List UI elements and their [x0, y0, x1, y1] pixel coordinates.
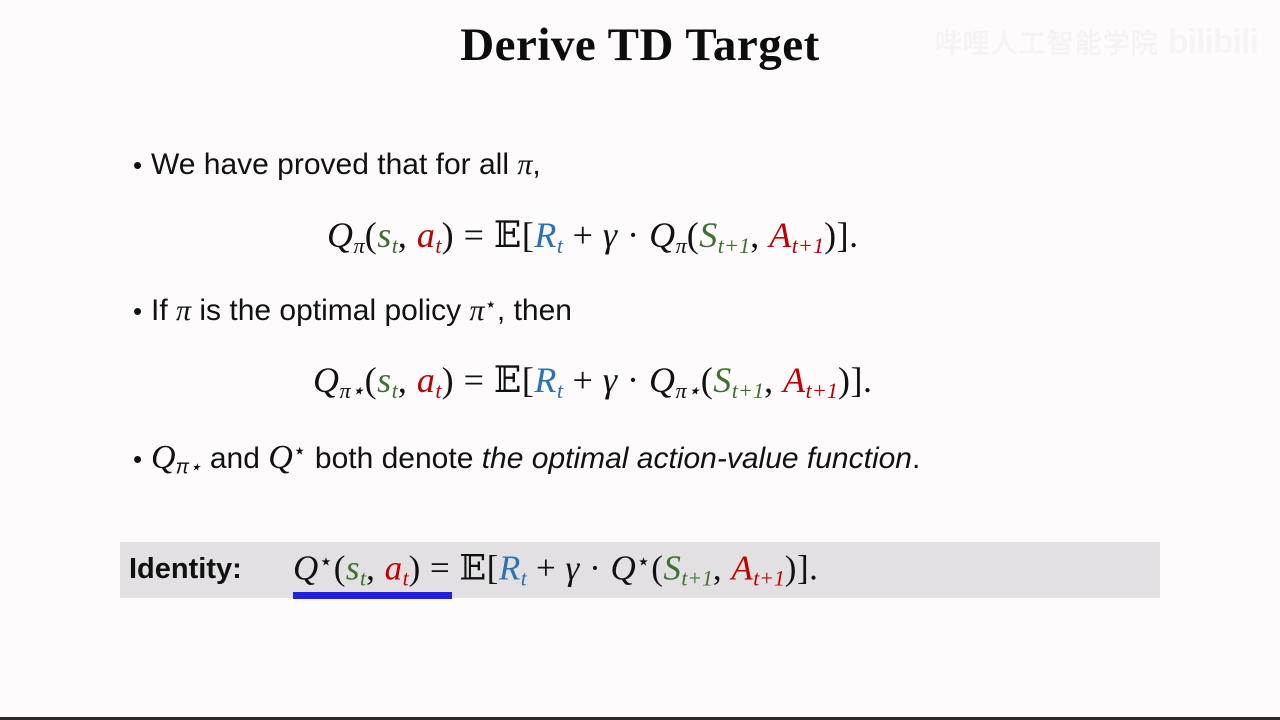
- id-bracket-close: )]: [785, 548, 809, 587]
- bullet-marker: •: [133, 446, 151, 472]
- eq1-expectation-symbol: 𝔼: [494, 215, 522, 256]
- equation-1: Qπ(st, at) = 𝔼[Rt + γ · Qπ(St+1, At+1)].: [327, 214, 859, 259]
- eq1-action-A-next: A: [769, 215, 792, 255]
- eq1-bracket-close: )]: [824, 215, 849, 255]
- eq1-period: .: [849, 215, 859, 255]
- bullet-1-lead: We have proved that for all: [151, 148, 517, 181]
- eq1-open-paren: (: [365, 215, 378, 255]
- bullet-marker: •: [133, 298, 151, 324]
- eq2-action-A-next: A: [783, 360, 806, 400]
- eq2-lhs-sub: π⋆: [340, 378, 365, 403]
- eq2-bracket-open: [: [522, 360, 535, 400]
- eq2-reward-R: R: [534, 360, 557, 400]
- bullet-item-2: • If π is the optimal policy π⋆, then: [133, 293, 572, 328]
- bullet-2-lead: If: [151, 294, 176, 327]
- eq1-cdot: ·: [618, 215, 650, 255]
- q-star-symbol: Q: [268, 439, 293, 476]
- id-expectation-symbol: 𝔼: [460, 548, 487, 588]
- bullet-3-mid: and: [201, 442, 268, 475]
- bullet-text-2: If π is the optimal policy π⋆, then: [151, 293, 572, 328]
- pi-symbol: π: [517, 148, 532, 181]
- eq1-bracket-open: [: [522, 215, 535, 255]
- id-open-paren-2: (: [651, 548, 663, 587]
- eq2-open-paren: (: [365, 360, 378, 400]
- bullet-text-3: Qπ⋆ and Q⋆ both denote the optimal actio…: [151, 438, 920, 479]
- id-equals: =: [421, 548, 460, 587]
- id-comma-1: ,: [366, 548, 385, 587]
- eq1-equals: =: [454, 215, 494, 255]
- eq2-bracket-close: )]: [838, 360, 863, 400]
- slide-canvas: Derive TD Target 哔哩人工智能学院 bilibili • We …: [0, 0, 1280, 720]
- q-pi-star-symbol: Q: [151, 439, 176, 476]
- eq1-comma-1: ,: [398, 215, 417, 255]
- eq1-plus: +: [563, 215, 603, 255]
- id-lhs-Q: Q: [293, 548, 319, 587]
- bullet-1-tail: ,: [532, 148, 540, 181]
- id-period: .: [809, 548, 818, 587]
- eq2-action-a: a: [417, 360, 436, 400]
- slide-body: • We have proved that for all π, Qπ(st, …: [0, 0, 1280, 720]
- equation-2: Qπ⋆(st, at) = 𝔼[Rt + γ · Qπ⋆(St+1, At+1)…: [313, 359, 873, 404]
- eq2-rhs-sub: π⋆: [676, 378, 701, 403]
- id-comma-2: ,: [713, 548, 732, 587]
- eq2-rhs-Q: Q: [649, 360, 676, 400]
- eq1-state-S-next-sub: t+1: [718, 233, 750, 258]
- eq1-state-S-next: S: [699, 215, 718, 255]
- eq1-open-paren-2: (: [687, 215, 700, 255]
- identity-blue-underline: [293, 592, 452, 599]
- eq2-action-A-next-sub: t+1: [806, 378, 838, 403]
- eq2-plus: +: [563, 360, 603, 400]
- eq2-period: .: [863, 360, 873, 400]
- eq2-state-S-next: S: [713, 360, 732, 400]
- eq1-action-a: a: [417, 215, 436, 255]
- eq2-comma-1: ,: [398, 360, 417, 400]
- eq2-state-s: s: [377, 360, 392, 400]
- eq1-state-s: s: [377, 215, 392, 255]
- q-star-superscript: ⋆: [293, 438, 307, 463]
- eq1-close-paren: ): [442, 215, 455, 255]
- id-gamma: γ: [566, 548, 580, 587]
- eq1-lhs-Q: Q: [327, 215, 354, 255]
- eq1-action-A-next-sub: t+1: [792, 233, 824, 258]
- emphasis-phrase: the optimal action-value function: [482, 442, 912, 475]
- star-superscript: ⋆: [485, 294, 497, 316]
- eq2-close-paren: ): [442, 360, 455, 400]
- id-state-S-next-sub: t+1: [681, 566, 713, 590]
- eq2-cdot: ·: [618, 360, 650, 400]
- eq2-open-paren-2: (: [701, 360, 714, 400]
- q-pi-star-subscript: π⋆: [176, 456, 202, 478]
- eq2-lhs-Q: Q: [313, 360, 340, 400]
- id-close-paren: ): [409, 548, 421, 587]
- id-rhs-Q: Q: [610, 548, 636, 587]
- pi-symbol: π: [176, 294, 191, 327]
- bullet-marker: •: [133, 152, 151, 178]
- bullet-3-tail: .: [912, 442, 920, 475]
- id-state-S-next: S: [663, 548, 681, 587]
- bullet-3-denote: both denote: [307, 442, 482, 475]
- pi-star-symbol: π: [470, 294, 485, 327]
- identity-label: Identity:: [129, 553, 242, 586]
- eq1-gamma: γ: [603, 215, 618, 255]
- bullet-text-1: We have proved that for all π,: [151, 148, 541, 182]
- identity-equation: Q⋆(st, at) = 𝔼[Rt + γ · Q⋆(St+1, At+1)].: [293, 548, 818, 591]
- eq2-expectation-symbol: 𝔼: [494, 360, 522, 401]
- bullet-2-mid: is the optimal policy: [191, 294, 469, 327]
- bullet-item-1: • We have proved that for all π,: [133, 148, 541, 182]
- id-lhs-star: ⋆: [319, 548, 334, 574]
- eq2-comma-2: ,: [764, 360, 783, 400]
- eq1-reward-R: R: [534, 215, 557, 255]
- id-reward-R: R: [499, 548, 521, 587]
- id-cdot: ·: [580, 548, 611, 587]
- bullet-2-tail: , then: [497, 294, 572, 327]
- id-action-a: a: [385, 548, 403, 587]
- eq2-state-S-next-sub: t+1: [732, 378, 764, 403]
- id-rhs-star: ⋆: [636, 548, 651, 574]
- id-bracket-open: [: [487, 548, 499, 587]
- id-action-A-next: A: [731, 548, 753, 587]
- eq1-comma-2: ,: [750, 215, 769, 255]
- eq2-gamma: γ: [603, 360, 618, 400]
- id-state-s: s: [346, 548, 360, 587]
- eq1-lhs-sub: π: [354, 233, 365, 258]
- eq1-rhs-sub: π: [676, 233, 687, 258]
- id-open-paren: (: [334, 548, 346, 587]
- eq1-rhs-Q: Q: [649, 215, 676, 255]
- bullet-item-3: • Qπ⋆ and Q⋆ both denote the optimal act…: [133, 438, 920, 479]
- eq2-equals: =: [454, 360, 494, 400]
- id-plus: +: [527, 548, 566, 587]
- id-action-A-next-sub: t+1: [753, 566, 785, 590]
